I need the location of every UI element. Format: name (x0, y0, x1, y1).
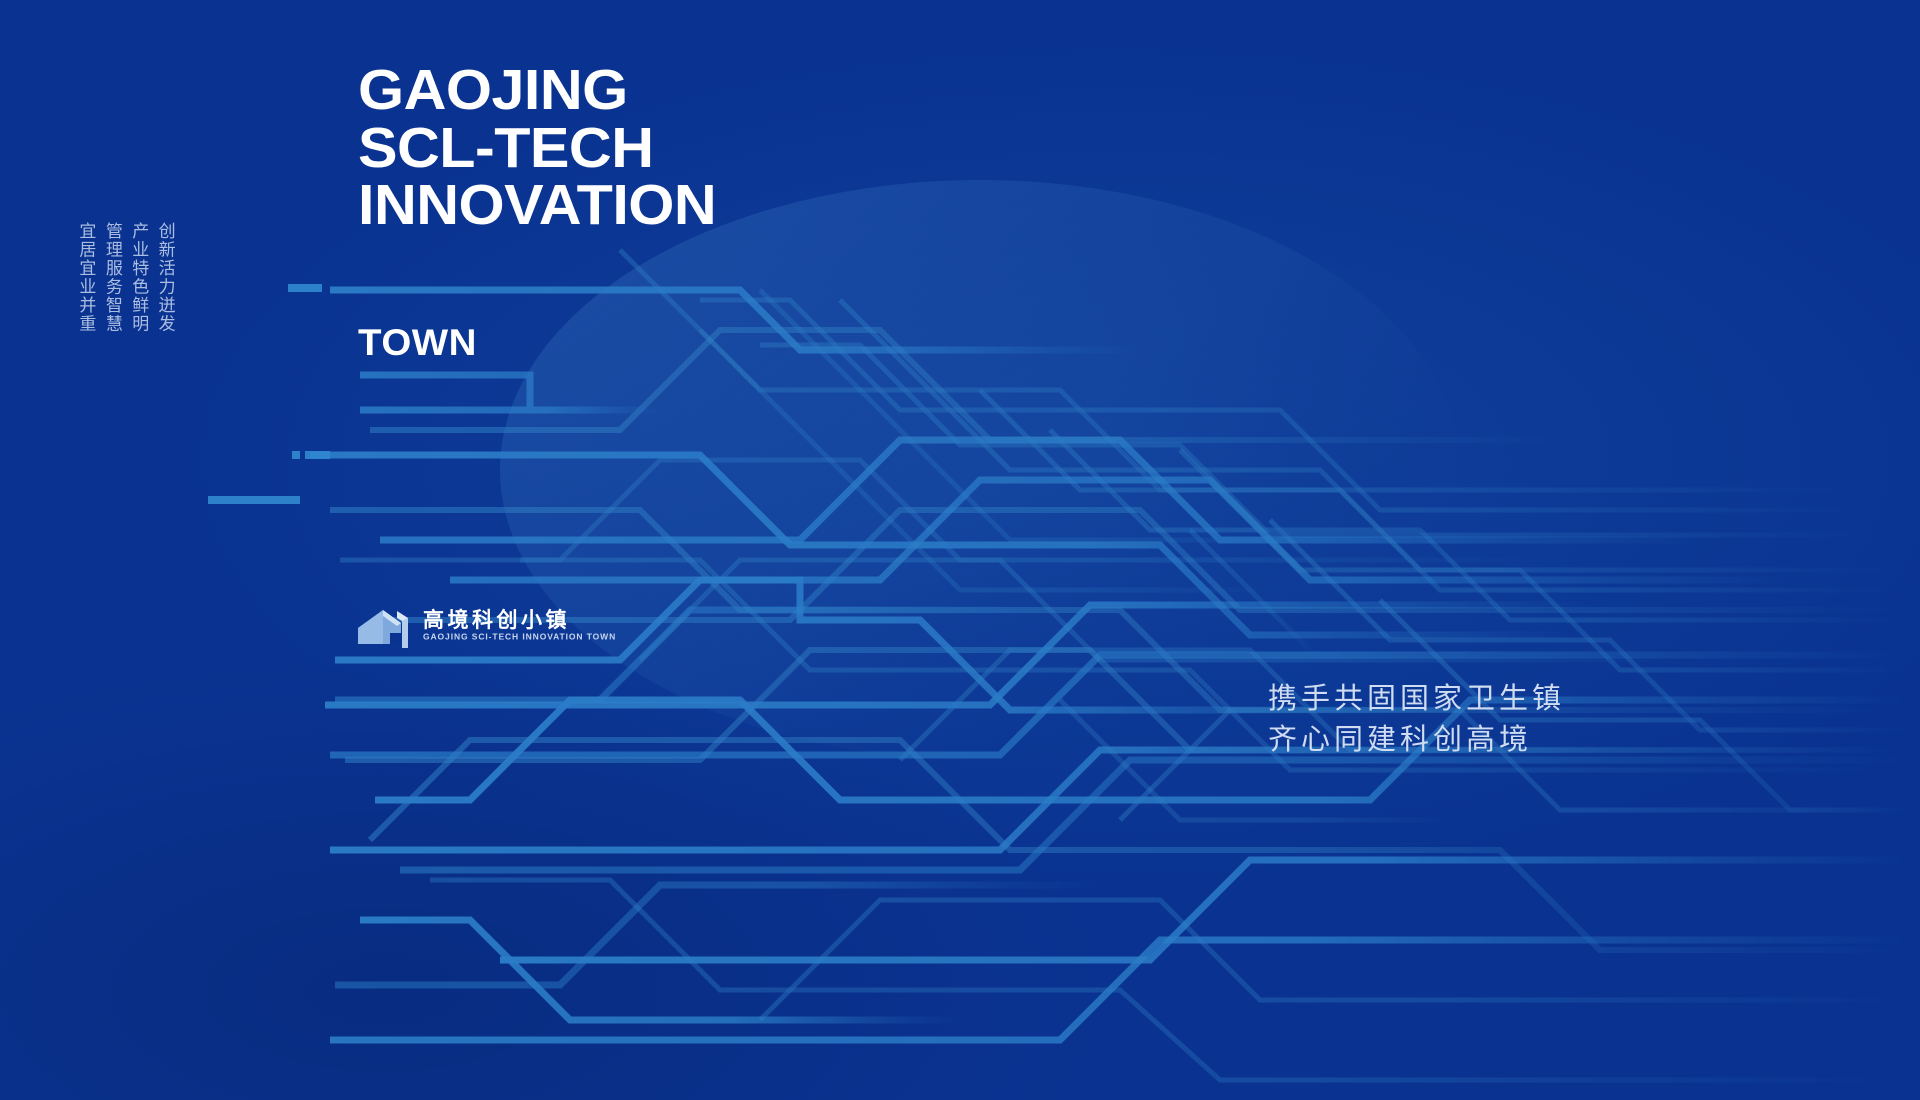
bottom-slogan-line-2: 齐心同建科创高境 (1268, 719, 1565, 760)
logo-text-block: 高境科创小镇 GAOJING SCI-TECH INNOVATION TOWN (423, 610, 616, 642)
bottom-slogan-block: 携手共固国家卫生镇 齐心同建科创高境 (1268, 678, 1565, 760)
vertical-slogan-col-4: 宜居宜业并重 (74, 222, 95, 333)
house-building-logo-icon (356, 604, 412, 648)
vertical-slogan-col-1: 创新活力迸发 (153, 222, 174, 333)
logo-english-name: GAOJING SCI-TECH INNOVATION TOWN (423, 633, 616, 641)
headline-line-3: INNOVATION (358, 177, 716, 235)
bottom-slogan-line-1: 携手共固国家卫生镇 (1268, 678, 1565, 719)
vertical-slogan-block: 创新活力迸发 产业特色鲜明 管理服务智慧 宜居宜业并重 (74, 222, 175, 333)
headline-line-2: SCL-TECH (358, 120, 716, 178)
vertical-slogan-col-2: 产业特色鲜明 (127, 222, 148, 333)
vertical-slogan-col-3: 管理服务智慧 (100, 222, 121, 333)
page-title: GAOJING SCL-TECH INNOVATION (358, 62, 702, 235)
circuit-trace-artwork (0, 0, 1920, 1100)
headline-subword-town: TOWN (358, 322, 477, 364)
headline-line-1: GAOJING (358, 62, 716, 120)
logo-chinese-name: 高境科创小镇 (423, 610, 616, 631)
poster-canvas: 创新活力迸发 产业特色鲜明 管理服务智慧 宜居宜业并重 GAOJING SCL-… (0, 0, 1920, 1100)
background-glow (0, 0, 1920, 1100)
brand-logo-lockup: 高境科创小镇 GAOJING SCI-TECH INNOVATION TOWN (356, 604, 616, 648)
